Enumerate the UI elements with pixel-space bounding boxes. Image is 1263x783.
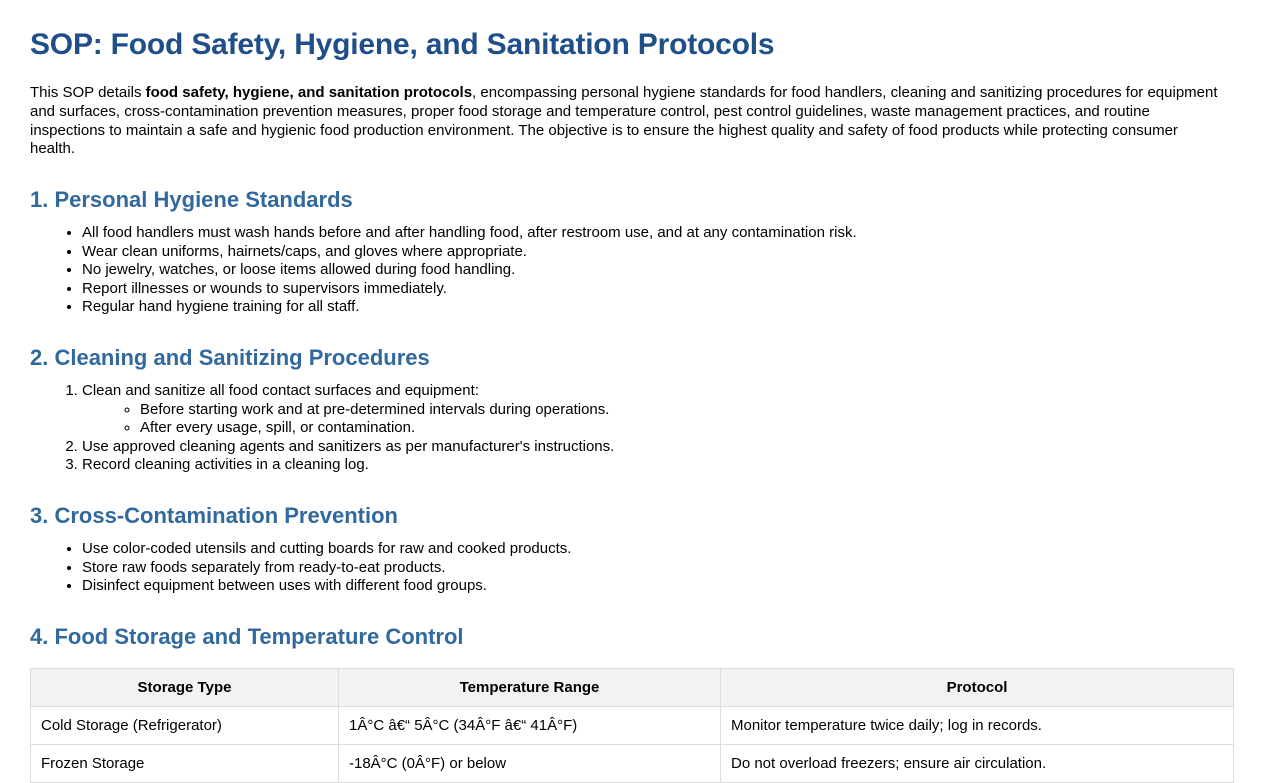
intro-paragraph: This SOP details food safety, hygiene, a…	[30, 84, 1222, 159]
list-item: Use approved cleaning agents and sanitiz…	[82, 438, 1233, 457]
section-heading-food-storage: 4. Food Storage and Temperature Control	[30, 596, 1233, 649]
intro-text-before: This SOP details	[30, 84, 146, 101]
list-item: Record cleaning activities in a cleaning…	[82, 456, 1233, 475]
table-header: Storage Type Temperature Range Protocol	[31, 668, 1234, 706]
intro-text-bold: food safety, hygiene, and sanitation pro…	[146, 84, 472, 101]
step-text: Clean and sanitize all food contact surf…	[82, 382, 479, 399]
list-item: Clean and sanitize all food contact surf…	[82, 382, 1233, 438]
list-item: Use color-coded utensils and cutting boa…	[82, 540, 1233, 559]
cell-storage-type: Frozen Storage	[31, 744, 339, 782]
column-header-storage-type: Storage Type	[31, 668, 339, 706]
cell-protocol: Do not overload freezers; ensure air cir…	[721, 744, 1234, 782]
cell-storage-type: Cold Storage (Refrigerator)	[31, 706, 339, 744]
document-page: SOP: Food Safety, Hygiene, and Sanitatio…	[0, 0, 1263, 783]
cell-protocol: Monitor temperature twice daily; log in …	[721, 706, 1234, 744]
table-row: Frozen Storage -18Â°C (0Â°F) or below Do…	[31, 744, 1234, 782]
list-item: All food handlers must wash hands before…	[82, 224, 1233, 243]
food-storage-table: Storage Type Temperature Range Protocol …	[30, 668, 1234, 783]
page-title: SOP: Food Safety, Hygiene, and Sanitatio…	[30, 0, 1233, 61]
list-item: Regular hand hygiene training for all st…	[82, 298, 1233, 317]
cleaning-sub-list: Before starting work and at pre-determin…	[82, 401, 1233, 438]
list-item: After every usage, spill, or contaminati…	[140, 419, 1233, 438]
table-header-row: Storage Type Temperature Range Protocol	[31, 668, 1234, 706]
list-item: Store raw foods separately from ready-to…	[82, 559, 1233, 578]
column-header-protocol: Protocol	[721, 668, 1234, 706]
section-heading-cross-contamination: 3. Cross-Contamination Prevention	[30, 475, 1233, 528]
list-item: Disinfect equipment between uses with di…	[82, 577, 1233, 596]
cross-contamination-list: Use color-coded utensils and cutting boa…	[30, 540, 1233, 596]
list-item: Before starting work and at pre-determin…	[140, 401, 1233, 420]
section-heading-cleaning: 2. Cleaning and Sanitizing Procedures	[30, 317, 1233, 370]
cleaning-steps-list: Clean and sanitize all food contact surf…	[30, 382, 1233, 475]
list-item: No jewelry, watches, or loose items allo…	[82, 261, 1233, 280]
list-item: Report illnesses or wounds to supervisor…	[82, 280, 1233, 299]
cell-temperature-range: 1Â°C â€“ 5Â°C (34Â°F â€“ 41Â°F)	[339, 706, 721, 744]
personal-hygiene-list: All food handlers must wash hands before…	[30, 224, 1233, 317]
cell-temperature-range: -18Â°C (0Â°F) or below	[339, 744, 721, 782]
section-heading-personal-hygiene: 1. Personal Hygiene Standards	[30, 159, 1233, 212]
list-item: Wear clean uniforms, hairnets/caps, and …	[82, 243, 1233, 262]
column-header-temperature-range: Temperature Range	[339, 668, 721, 706]
table-row: Cold Storage (Refrigerator) 1Â°C â€“ 5Â°…	[31, 706, 1234, 744]
table-body: Cold Storage (Refrigerator) 1Â°C â€“ 5Â°…	[31, 706, 1234, 782]
